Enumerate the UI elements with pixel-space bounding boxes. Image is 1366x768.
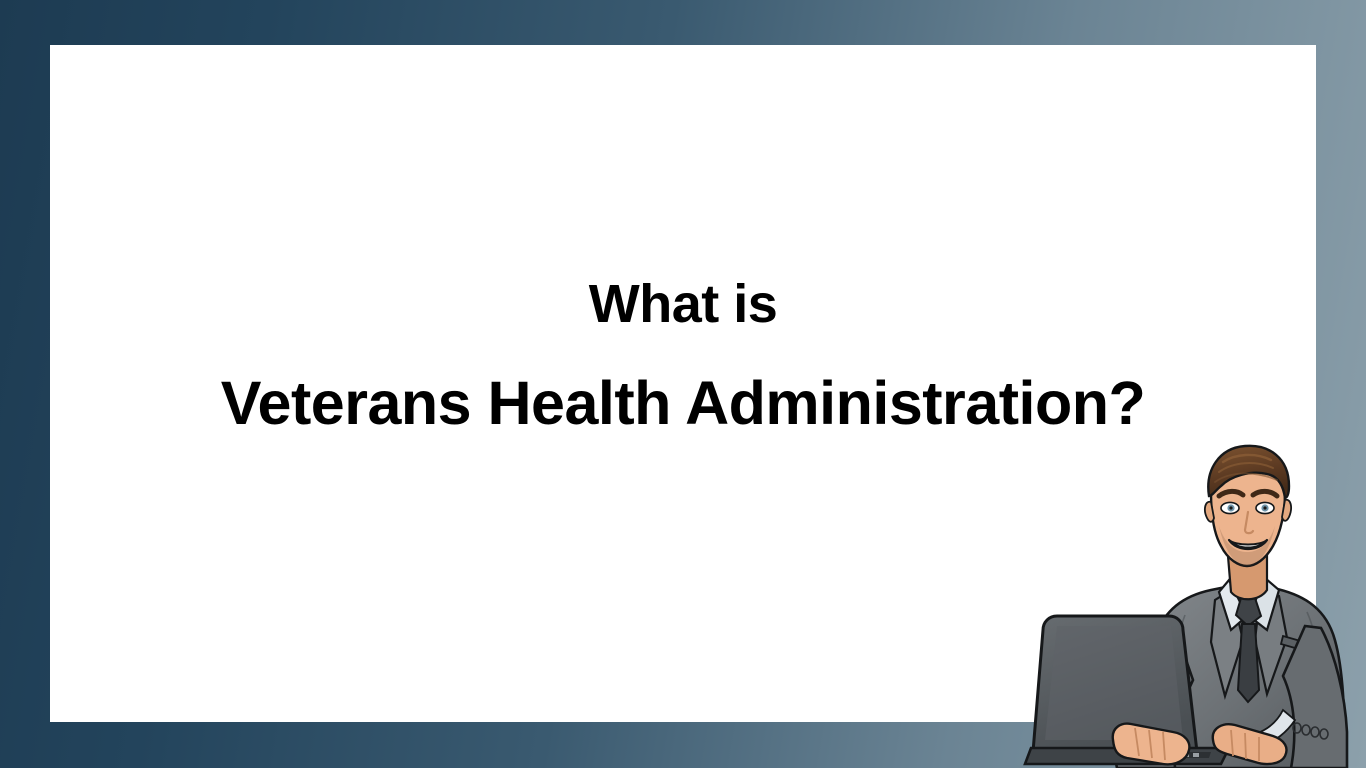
right-hand xyxy=(1213,724,1287,764)
left-hand xyxy=(1113,724,1190,765)
slide-content-panel: What is Veterans Health Administration? xyxy=(50,45,1316,722)
slide-root: What is Veterans Health Administration? xyxy=(0,0,1366,768)
sleeve-cuff-buttons xyxy=(1293,723,1328,739)
slide-title-line-1: What is xyxy=(50,277,1316,331)
slide-title-block: What is Veterans Health Administration? xyxy=(50,277,1316,434)
slide-title-line-2: Veterans Health Administration? xyxy=(50,373,1316,434)
